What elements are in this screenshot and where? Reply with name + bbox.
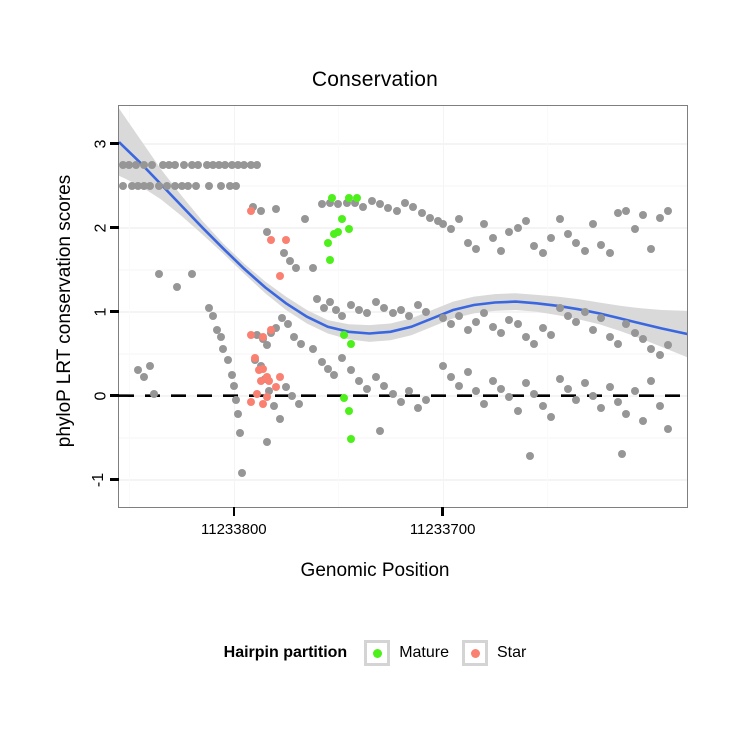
data-point-other bbox=[547, 413, 555, 421]
plot-panel: -101231123380011233700 bbox=[118, 105, 688, 508]
data-point-other bbox=[572, 318, 580, 326]
data-point-other bbox=[270, 402, 278, 410]
data-point-other bbox=[368, 197, 376, 205]
y-axis-tick-label: -1 bbox=[90, 472, 108, 486]
data-point-mature bbox=[324, 239, 332, 247]
data-point-other bbox=[372, 298, 380, 306]
data-point-other bbox=[606, 249, 614, 257]
data-point-other bbox=[232, 182, 240, 190]
data-point-other bbox=[480, 220, 488, 228]
data-point-other bbox=[401, 199, 409, 207]
data-point-other bbox=[347, 301, 355, 309]
data-point-mature bbox=[345, 407, 353, 415]
data-point-other bbox=[564, 312, 572, 320]
data-point-other bbox=[184, 182, 192, 190]
data-point-other bbox=[414, 404, 422, 412]
data-point-other bbox=[581, 247, 589, 255]
legend-key-swatch bbox=[462, 640, 488, 666]
data-point-other bbox=[359, 203, 367, 211]
data-point-other bbox=[257, 207, 265, 215]
y-axis-tick-label: 3 bbox=[93, 139, 111, 148]
data-point-star bbox=[272, 383, 280, 391]
legend-title: Hairpin partition bbox=[224, 644, 348, 662]
data-point-star bbox=[276, 373, 284, 381]
data-point-other bbox=[464, 368, 472, 376]
legend-label: Mature bbox=[399, 644, 449, 662]
data-point-other bbox=[464, 239, 472, 247]
data-point-other bbox=[414, 301, 422, 309]
legend-entries: MatureStar bbox=[364, 640, 526, 666]
data-point-other bbox=[180, 161, 188, 169]
data-point-other bbox=[119, 182, 127, 190]
data-point-other bbox=[522, 333, 530, 341]
plot-area bbox=[119, 106, 687, 507]
data-point-other bbox=[224, 356, 232, 364]
data-point-other bbox=[209, 312, 217, 320]
y-axis-tick-label: 2 bbox=[93, 223, 111, 232]
data-point-other bbox=[155, 270, 163, 278]
data-point-other bbox=[297, 340, 305, 348]
data-point-other bbox=[656, 214, 664, 222]
legend-label: Star bbox=[497, 644, 526, 662]
data-point-other bbox=[647, 377, 655, 385]
data-point-other bbox=[272, 205, 280, 213]
data-point-mature bbox=[326, 256, 334, 264]
y-axis-tick bbox=[110, 226, 119, 229]
data-point-other bbox=[589, 392, 597, 400]
data-point-other bbox=[397, 306, 405, 314]
data-point-other bbox=[597, 241, 605, 249]
data-point-other bbox=[656, 402, 664, 410]
data-point-other bbox=[606, 333, 614, 341]
data-point-other bbox=[232, 396, 240, 404]
data-point-other bbox=[664, 207, 672, 215]
data-point-other bbox=[205, 182, 213, 190]
data-point-star bbox=[247, 331, 255, 339]
y-axis-label: phyloP LRT conservation scores bbox=[54, 111, 76, 511]
data-point-other bbox=[472, 318, 480, 326]
y-axis-tick bbox=[110, 478, 119, 481]
data-point-other bbox=[295, 400, 303, 408]
data-point-other bbox=[614, 340, 622, 348]
data-point-star bbox=[253, 390, 261, 398]
data-point-other bbox=[389, 309, 397, 317]
data-point-other bbox=[639, 417, 647, 425]
data-point-other bbox=[539, 402, 547, 410]
data-point-other bbox=[439, 220, 447, 228]
data-point-other bbox=[393, 207, 401, 215]
data-point-other bbox=[464, 326, 472, 334]
conservation-scatter-chart: Conservation phyloP LRT conservation sco… bbox=[0, 0, 750, 750]
data-point-other bbox=[276, 415, 284, 423]
data-point-other bbox=[163, 182, 171, 190]
y-axis-tick bbox=[110, 310, 119, 313]
legend-entry-mature[interactable]: Mature bbox=[364, 640, 449, 666]
data-point-other bbox=[318, 358, 326, 366]
data-point-other bbox=[455, 382, 463, 390]
data-point-other bbox=[472, 245, 480, 253]
data-point-other bbox=[439, 362, 447, 370]
data-point-other bbox=[288, 392, 296, 400]
data-point-other bbox=[228, 371, 236, 379]
data-point-other bbox=[132, 161, 140, 169]
legend: Hairpin partition MatureStar bbox=[0, 640, 750, 666]
data-point-other bbox=[253, 161, 261, 169]
data-point-star bbox=[247, 207, 255, 215]
x-axis-tick bbox=[441, 507, 444, 516]
data-point-other bbox=[426, 214, 434, 222]
y-axis-tick bbox=[110, 394, 119, 397]
data-point-other bbox=[318, 200, 326, 208]
x-axis-label: Genomic Position bbox=[0, 560, 750, 582]
data-point-other bbox=[489, 377, 497, 385]
data-point-other bbox=[606, 383, 614, 391]
data-point-other bbox=[380, 382, 388, 390]
data-point-other bbox=[389, 390, 397, 398]
data-point-other bbox=[514, 407, 522, 415]
legend-entry-star[interactable]: Star bbox=[462, 640, 526, 666]
data-point-other bbox=[326, 298, 334, 306]
data-point-star bbox=[257, 377, 265, 385]
y-axis-tick-label: 0 bbox=[93, 391, 111, 400]
data-point-other bbox=[188, 270, 196, 278]
data-point-other bbox=[514, 224, 522, 232]
data-point-other bbox=[280, 249, 288, 257]
data-point-other bbox=[205, 304, 213, 312]
data-point-other bbox=[589, 220, 597, 228]
legend-dot-icon bbox=[471, 649, 480, 658]
data-point-other bbox=[489, 323, 497, 331]
data-point-star bbox=[259, 365, 267, 373]
y-axis-tick bbox=[110, 142, 119, 145]
data-point-other bbox=[581, 379, 589, 387]
x-axis-tick bbox=[233, 507, 236, 516]
data-point-other bbox=[155, 182, 163, 190]
data-point-other bbox=[384, 204, 392, 212]
data-point-mature bbox=[347, 340, 355, 348]
data-point-other bbox=[614, 209, 622, 217]
data-point-other bbox=[422, 308, 430, 316]
data-point-other bbox=[539, 249, 547, 257]
data-point-other bbox=[489, 234, 497, 242]
data-point-star bbox=[247, 398, 255, 406]
data-point-other bbox=[380, 304, 388, 312]
data-point-other bbox=[355, 377, 363, 385]
data-point-other bbox=[547, 234, 555, 242]
legend-dot-icon bbox=[373, 649, 382, 658]
data-point-other bbox=[230, 382, 238, 390]
data-point-other bbox=[581, 308, 589, 316]
data-point-star bbox=[259, 333, 267, 341]
data-point-other bbox=[497, 329, 505, 337]
data-point-other bbox=[631, 329, 639, 337]
legend-key-swatch bbox=[364, 640, 390, 666]
data-point-other bbox=[372, 373, 380, 381]
data-point-other bbox=[418, 209, 426, 217]
data-point-other bbox=[564, 385, 572, 393]
data-point-other bbox=[556, 215, 564, 223]
x-axis-tick-label: 11233800 bbox=[201, 521, 267, 538]
data-point-other bbox=[173, 283, 181, 291]
chart-title: Conservation bbox=[0, 68, 750, 92]
data-point-other bbox=[497, 385, 505, 393]
data-point-mature bbox=[345, 194, 353, 202]
data-point-other bbox=[330, 371, 338, 379]
data-point-star bbox=[251, 354, 259, 362]
x-axis-tick-label: 11233700 bbox=[410, 521, 476, 538]
data-point-other bbox=[556, 375, 564, 383]
data-point-other bbox=[140, 161, 148, 169]
data-point-other bbox=[639, 335, 647, 343]
data-point-other bbox=[556, 304, 564, 312]
data-point-other bbox=[192, 182, 200, 190]
data-point-other bbox=[422, 396, 430, 404]
y-axis-tick-label: 1 bbox=[93, 307, 111, 316]
data-point-other bbox=[376, 427, 384, 435]
